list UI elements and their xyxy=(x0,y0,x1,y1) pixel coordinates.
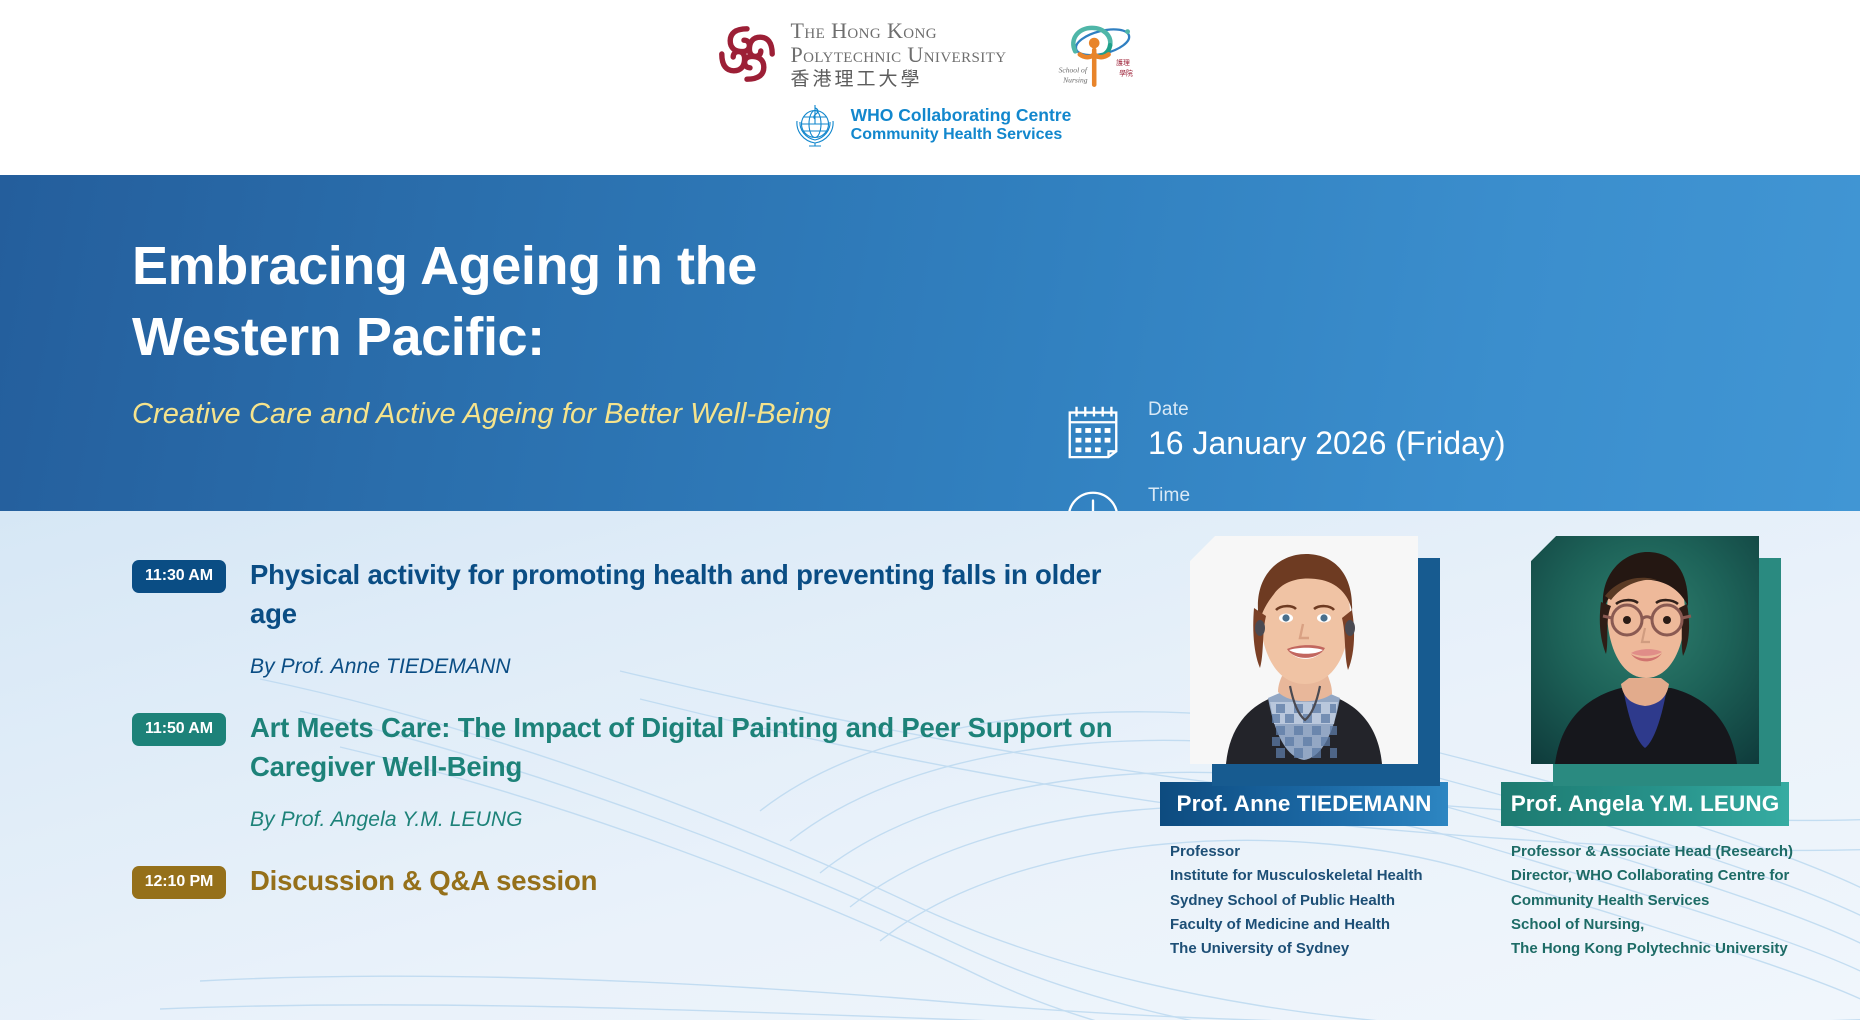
speaker-card-tiedemann: Prof. Anne TIEDEMANN Professor Institute… xyxy=(1160,536,1448,961)
speaker-name-bar: Prof. Anne TIEDEMANN xyxy=(1160,782,1448,826)
meta-row-date: Date 16 January 2026 (Friday) xyxy=(1062,397,1709,463)
logo-row-secondary: WHO Collaborating Centre Community Healt… xyxy=(0,100,1860,150)
svg-text:學院: 學院 xyxy=(1120,69,1134,78)
agenda-title: Physical activity for promoting health a… xyxy=(250,556,1132,633)
agenda-speaker: By Prof. Anne TIEDEMANN xyxy=(250,655,1132,679)
agenda-item: 11:50 AM Art Meets Care: The Impact of D… xyxy=(132,709,1132,832)
photo-wrap xyxy=(1190,536,1418,764)
credential-line: Sydney School of Public Health xyxy=(1170,889,1448,913)
polyu-name-line2: Polytechnic University xyxy=(791,44,1007,66)
who-line1: WHO Collaborating Centre xyxy=(851,106,1072,126)
hero-banner: Embracing Ageing in the Western Pacific:… xyxy=(0,175,1860,511)
meta-row-time: Time 11:30 am - 12:30 pm (Hong Kong Time… xyxy=(1062,483,1709,511)
svg-text:School of: School of xyxy=(1059,66,1088,75)
credential-line: Community Health Services xyxy=(1511,889,1789,913)
meta-label-time: Time xyxy=(1148,485,1709,507)
speaker-card-leung: Prof. Angela Y.M. LEUNG Professor & Asso… xyxy=(1501,536,1789,961)
agenda-body: Art Meets Care: The Impact of Digital Pa… xyxy=(250,709,1132,832)
speaker-credentials: Professor Institute for Musculoskeletal … xyxy=(1160,840,1448,961)
who-emblem-icon xyxy=(789,100,841,150)
agenda-time-badge: 11:30 AM xyxy=(132,560,226,593)
meta-text-date: Date 16 January 2026 (Friday) xyxy=(1148,397,1506,463)
calendar-icon xyxy=(1062,397,1124,463)
agenda-title: Discussion & Q&A session xyxy=(250,862,1132,901)
school-of-nursing-logo: School of Nursing 護理 學院 xyxy=(1052,18,1144,90)
svg-text:護理: 護理 xyxy=(1117,58,1131,67)
credential-line: Professor & Associate Head (Research) xyxy=(1511,840,1789,864)
agenda-speaker: By Prof. Angela Y.M. LEUNG xyxy=(250,808,1132,832)
who-logo: WHO Collaborating Centre Community Healt… xyxy=(789,100,1072,150)
hero-text-block: Embracing Ageing in the Western Pacific:… xyxy=(132,231,831,431)
speaker-name-bar: Prof. Angela Y.M. LEUNG xyxy=(1501,782,1789,826)
svg-text:Nursing: Nursing xyxy=(1063,75,1089,84)
polyu-wordmark: The Hong Kong Polytechnic University 香港理… xyxy=(791,20,1007,89)
meta-text-time: Time 11:30 am - 12:30 pm (Hong Kong Time… xyxy=(1148,483,1709,511)
credential-line: Institute for Musculoskeletal Health xyxy=(1170,864,1448,888)
polyu-knot-icon xyxy=(716,24,778,84)
who-wordmark: WHO Collaborating Centre Community Healt… xyxy=(851,106,1072,144)
agenda-title: Art Meets Care: The Impact of Digital Pa… xyxy=(250,709,1132,786)
event-subtitle: Creative Care and Active Ageing for Bett… xyxy=(132,398,831,431)
agenda-body: Physical activity for promoting health a… xyxy=(250,556,1132,679)
agenda-item: 11:30 AM Physical activity for promoting… xyxy=(132,556,1132,679)
credential-line: The Hong Kong Polytechnic University xyxy=(1511,937,1789,961)
programme-section: 11:30 AM Physical activity for promoting… xyxy=(0,511,1860,1020)
logo-row-primary: The Hong Kong Polytechnic University 香港理… xyxy=(0,18,1860,90)
credential-line: The University of Sydney xyxy=(1170,937,1448,961)
agenda-time-badge: 11:50 AM xyxy=(132,713,226,746)
agenda-list: 11:30 AM Physical activity for promoting… xyxy=(132,556,1132,901)
event-title: Embracing Ageing in the Western Pacific: xyxy=(132,231,831,374)
agenda-item: 12:10 PM Discussion & Q&A session xyxy=(132,862,1132,901)
portrait-illustration xyxy=(1190,536,1418,764)
event-meta-list: Date 16 January 2026 (Friday) Time 11:30… xyxy=(1062,397,1709,511)
meta-label-date: Date xyxy=(1148,399,1506,421)
polyu-name-line1: The Hong Kong xyxy=(791,20,1007,42)
clock-icon xyxy=(1062,483,1124,511)
polyu-name-chinese: 香港理工大學 xyxy=(791,70,1007,89)
photo-wrap xyxy=(1531,536,1759,764)
credential-line: Faculty of Medicine and Health xyxy=(1170,913,1448,937)
portrait-illustration xyxy=(1531,536,1759,764)
meta-value-date: 16 January 2026 (Friday) xyxy=(1148,425,1506,463)
logo-bar: The Hong Kong Polytechnic University 香港理… xyxy=(0,0,1860,175)
speaker-list: Prof. Anne TIEDEMANN Professor Institute… xyxy=(1160,536,1789,961)
agenda-time-badge: 12:10 PM xyxy=(132,866,226,899)
polyu-logo: The Hong Kong Polytechnic University 香港理… xyxy=(716,20,1007,89)
event-poster: The Hong Kong Polytechnic University 香港理… xyxy=(0,0,1860,1020)
credential-line: Professor xyxy=(1170,840,1448,864)
agenda-body: Discussion & Q&A session xyxy=(250,862,1132,901)
speaker-photo-anne-tiedemann xyxy=(1190,536,1418,764)
credential-line: School of Nursing, xyxy=(1511,913,1789,937)
who-line2: Community Health Services xyxy=(851,126,1072,144)
speaker-photo-angela-leung xyxy=(1531,536,1759,764)
speaker-credentials: Professor & Associate Head (Research) Di… xyxy=(1501,840,1789,961)
credential-line: Director, WHO Collaborating Centre for xyxy=(1511,864,1789,888)
